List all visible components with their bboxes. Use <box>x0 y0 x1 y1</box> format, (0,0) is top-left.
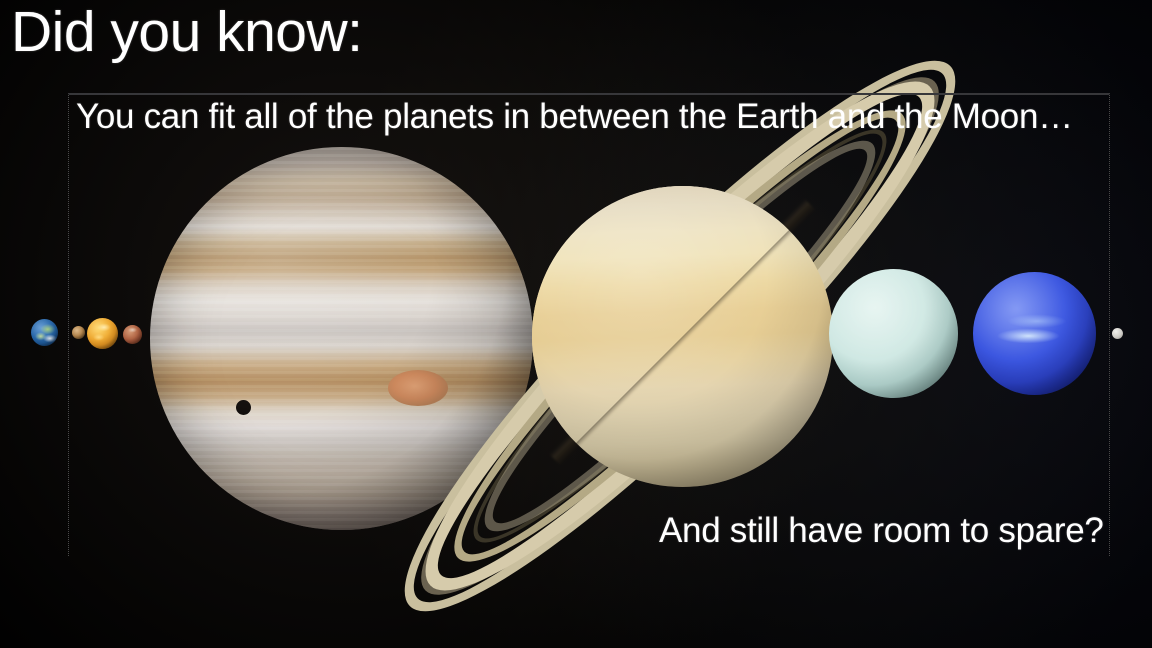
page-title: Did you know: <box>11 4 363 61</box>
slide-canvas: Did you know: You can fit all of the pla… <box>0 0 1152 648</box>
earth-planet <box>31 319 58 346</box>
body-text-line: You can fit all of the planets in betwee… <box>76 99 1073 134</box>
content-textbox[interactable] <box>68 93 1110 556</box>
closing-text-line: And still have room to spare? <box>659 513 1104 548</box>
moon-body <box>1112 328 1123 339</box>
